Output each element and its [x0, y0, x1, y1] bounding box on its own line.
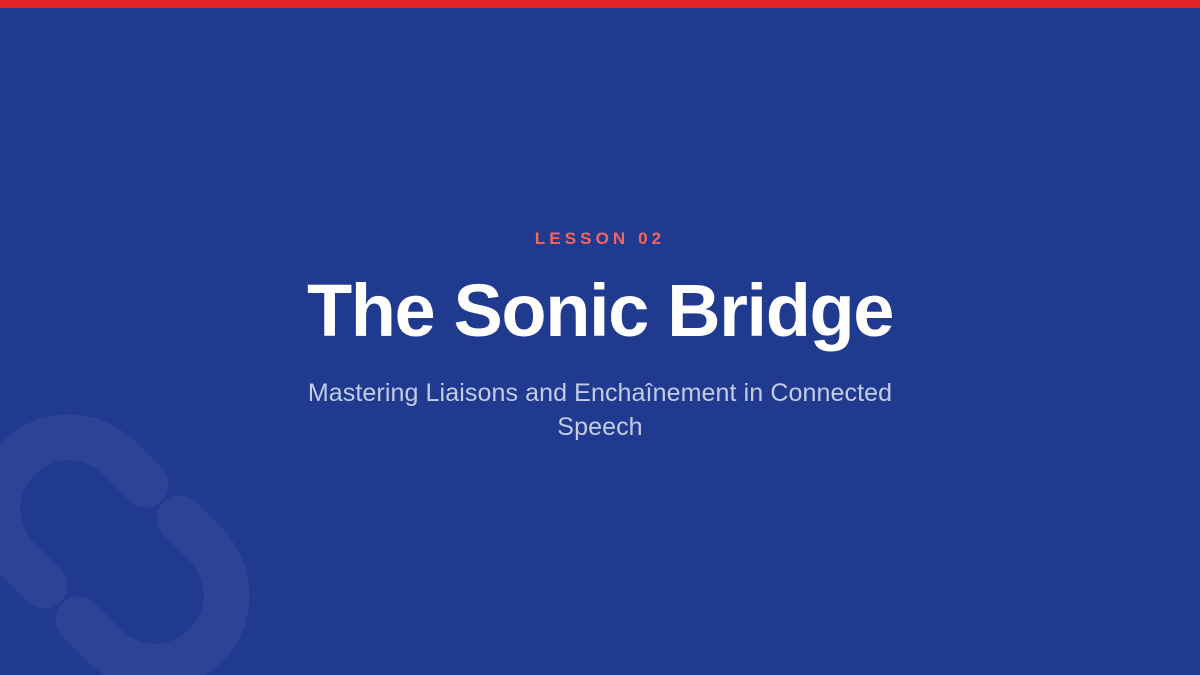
- slide-content: LESSON 02 The Sonic Bridge Mastering Lia…: [0, 0, 1200, 675]
- page-title: The Sonic Bridge: [307, 273, 893, 350]
- title-slide: LESSON 02 The Sonic Bridge Mastering Lia…: [0, 0, 1200, 675]
- top-accent-bar: [0, 0, 1200, 8]
- slide-subtitle: Mastering Liaisons and Enchaînement in C…: [290, 376, 910, 445]
- lesson-eyebrow-label: LESSON 02: [535, 230, 665, 247]
